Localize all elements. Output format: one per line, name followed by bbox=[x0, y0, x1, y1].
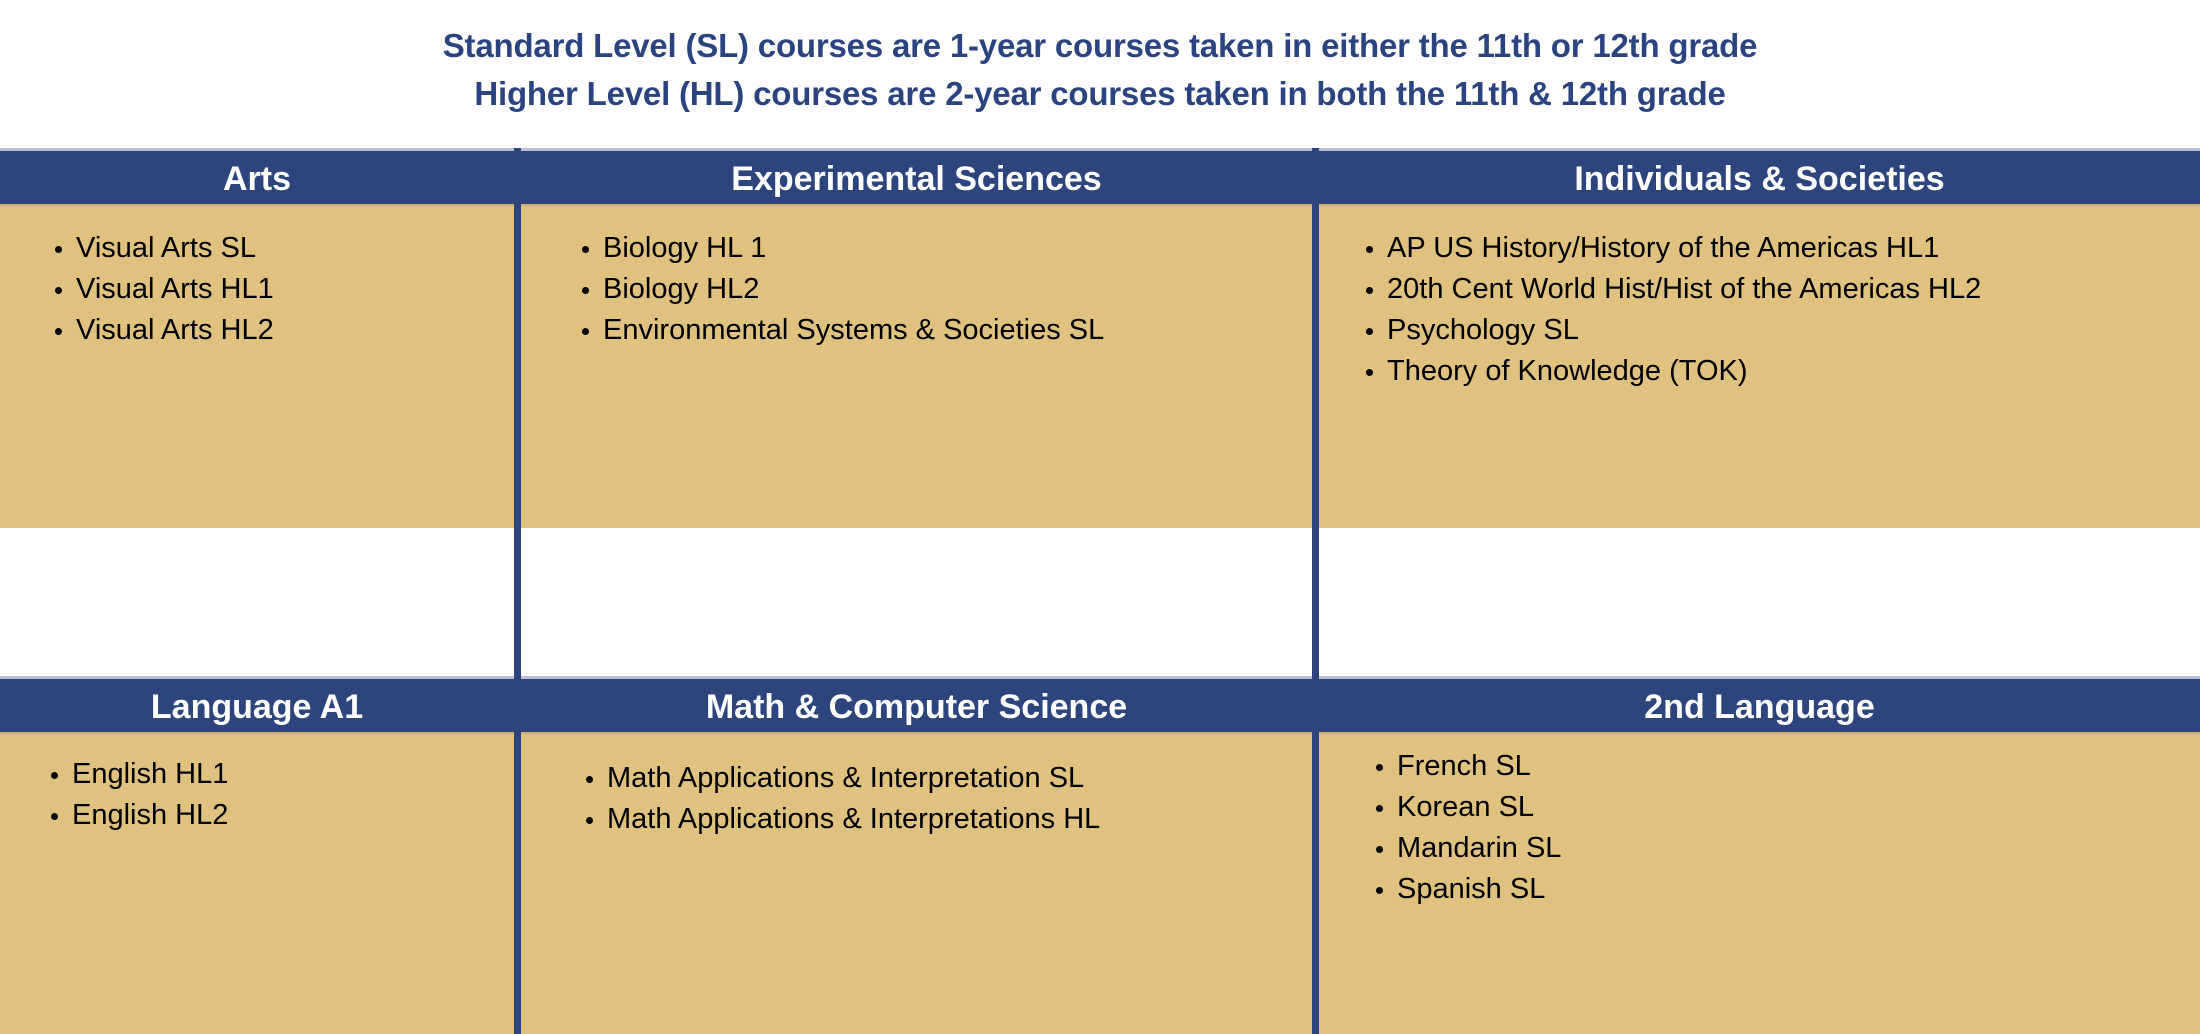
list-item: French SL bbox=[1397, 746, 2200, 787]
category-row-2-body: English HL1 English HL2 Math Application… bbox=[0, 732, 2200, 1034]
category-title-individuals-societies: Individuals & Societies bbox=[1319, 151, 2200, 207]
category-row-2: Language A1 Math & Computer Science 2nd … bbox=[0, 676, 2200, 1034]
list-item: Mandarin SL bbox=[1397, 828, 2200, 869]
category-row-1-body: Visual Arts SL Visual Arts HL1 Visual Ar… bbox=[0, 204, 2200, 528]
column-divider-gap-2 bbox=[1312, 528, 1319, 676]
list-item: Math Applications & Interpretation SL bbox=[607, 758, 1312, 799]
list-item: Biology HL2 bbox=[603, 269, 1312, 310]
intro-line-sl: Standard Level (SL) courses are 1-year c… bbox=[0, 22, 2200, 70]
course-list-2nd-language: French SL Korean SL Mandarin SL Spanish … bbox=[1319, 734, 2200, 910]
list-item: Biology HL 1 bbox=[603, 228, 1312, 269]
course-list-individuals-societies: AP US History/History of the Americas HL… bbox=[1319, 206, 2200, 392]
list-item: Environmental Systems & Societies SL bbox=[603, 310, 1312, 351]
list-item: Korean SL bbox=[1397, 787, 2200, 828]
category-title-arts: Arts bbox=[0, 151, 514, 207]
list-item: Theory of Knowledge (TOK) bbox=[1387, 351, 2200, 392]
category-row-1-header-bar: Arts Experimental Sciences Individuals &… bbox=[0, 148, 2200, 204]
list-item: AP US History/History of the Americas HL… bbox=[1387, 228, 2200, 269]
list-item: Math Applications & Interpretations HL bbox=[607, 799, 1312, 840]
column-divider-1 bbox=[514, 148, 521, 528]
category-title-math-computer-science: Math & Computer Science bbox=[521, 679, 1312, 735]
course-list-arts: Visual Arts SL Visual Arts HL1 Visual Ar… bbox=[0, 206, 514, 351]
list-item: Spanish SL bbox=[1397, 869, 2200, 910]
column-divider-3 bbox=[514, 676, 521, 1034]
intro-heading: Standard Level (SL) courses are 1-year c… bbox=[0, 22, 2200, 118]
list-item: Visual Arts HL1 bbox=[76, 269, 514, 310]
course-list-math-computer-science: Math Applications & Interpretation SL Ma… bbox=[521, 734, 1312, 840]
category-title-experimental-sciences: Experimental Sciences bbox=[521, 151, 1312, 207]
category-title-2nd-language: 2nd Language bbox=[1319, 679, 2200, 735]
intro-line-hl: Higher Level (HL) courses are 2-year cou… bbox=[0, 70, 2200, 118]
list-item: 20th Cent World Hist/Hist of the America… bbox=[1387, 269, 2200, 310]
course-list-experimental-sciences: Biology HL 1 Biology HL2 Environmental S… bbox=[521, 206, 1312, 351]
category-row-1: Arts Experimental Sciences Individuals &… bbox=[0, 148, 2200, 528]
category-row-2-header-bar: Language A1 Math & Computer Science 2nd … bbox=[0, 676, 2200, 732]
list-item: Visual Arts HL2 bbox=[76, 310, 514, 351]
list-item: Visual Arts SL bbox=[76, 228, 514, 269]
column-divider-4 bbox=[1312, 676, 1319, 1034]
column-divider-gap-1 bbox=[514, 528, 521, 676]
category-grid: Arts Experimental Sciences Individuals &… bbox=[0, 148, 2200, 886]
course-offerings-page: Standard Level (SL) courses are 1-year c… bbox=[0, 0, 2200, 886]
list-item: Psychology SL bbox=[1387, 310, 2200, 351]
column-divider-2 bbox=[1312, 148, 1319, 528]
list-item: English HL1 bbox=[72, 754, 514, 795]
category-title-language-a1: Language A1 bbox=[0, 679, 514, 735]
course-list-language-a1: English HL1 English HL2 bbox=[0, 734, 514, 836]
list-item: English HL2 bbox=[72, 795, 514, 836]
